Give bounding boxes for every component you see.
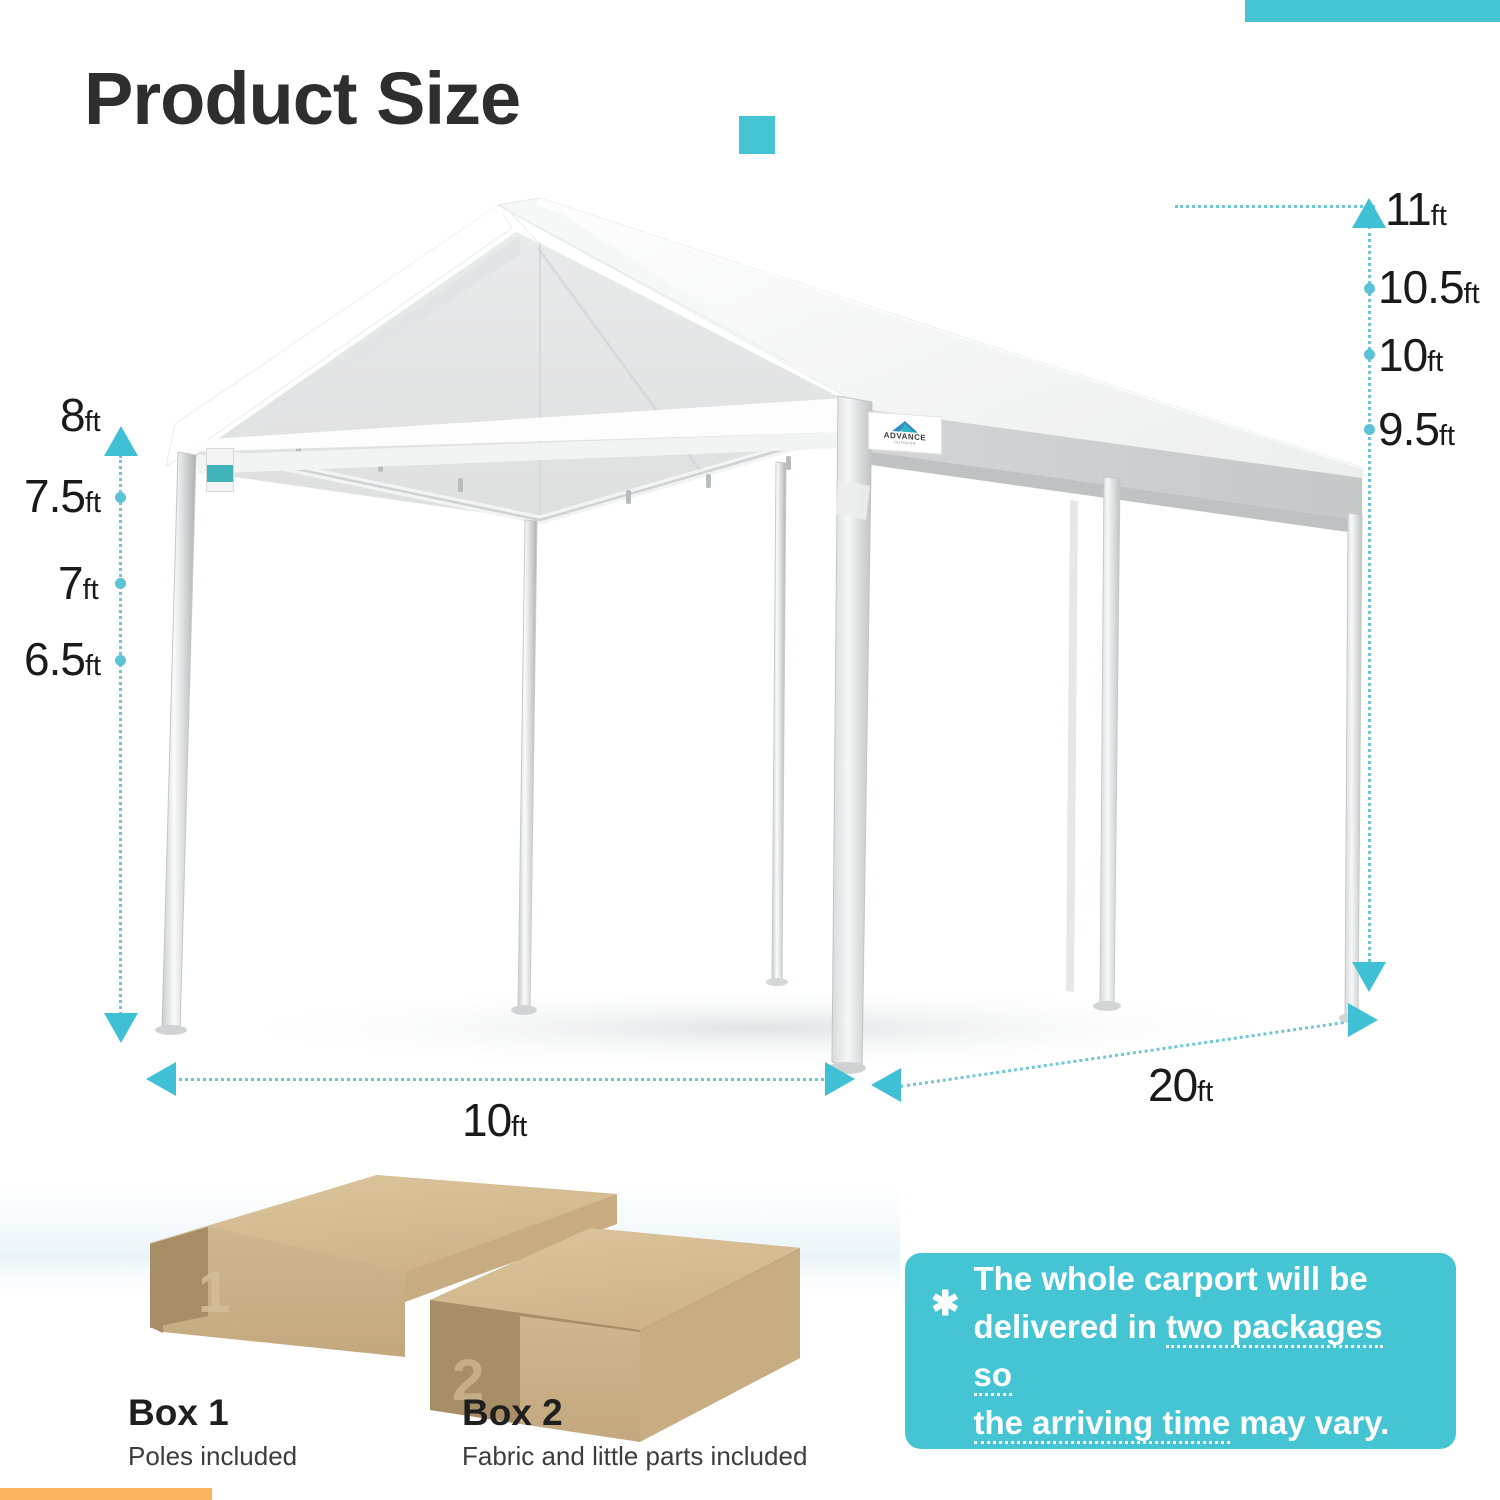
box-1-title: Box 1 bbox=[128, 1392, 229, 1434]
title-accent-square bbox=[739, 116, 775, 154]
note-line-2: delivered in two packages so bbox=[974, 1303, 1427, 1399]
note-text: The whole carport will be delivered in t… bbox=[974, 1255, 1427, 1446]
page-title-block: Product Size bbox=[84, 62, 520, 136]
box-1-subtitle: Poles included bbox=[128, 1441, 297, 1472]
page-title: Product Size bbox=[84, 62, 520, 136]
box-2-subtitle: Fabric and little parts included bbox=[462, 1441, 807, 1472]
note-bullet-icon: ✱ bbox=[931, 1287, 960, 1321]
note-line-3: the arriving time may vary. bbox=[974, 1399, 1427, 1447]
svg-text:1: 1 bbox=[198, 1260, 230, 1325]
note-line-2-plain: delivered in bbox=[974, 1308, 1167, 1345]
note-line-3-plain: may vary. bbox=[1230, 1404, 1389, 1441]
infographic-canvas: Product Size bbox=[0, 0, 1500, 1500]
note-line-1: The whole carport will be bbox=[974, 1255, 1427, 1303]
note-line-3-underlined: the arriving time bbox=[974, 1404, 1231, 1444]
delivery-note-panel: ✱ The whole carport will be delivered in… bbox=[905, 1253, 1456, 1449]
box-2-title: Box 2 bbox=[462, 1392, 563, 1434]
